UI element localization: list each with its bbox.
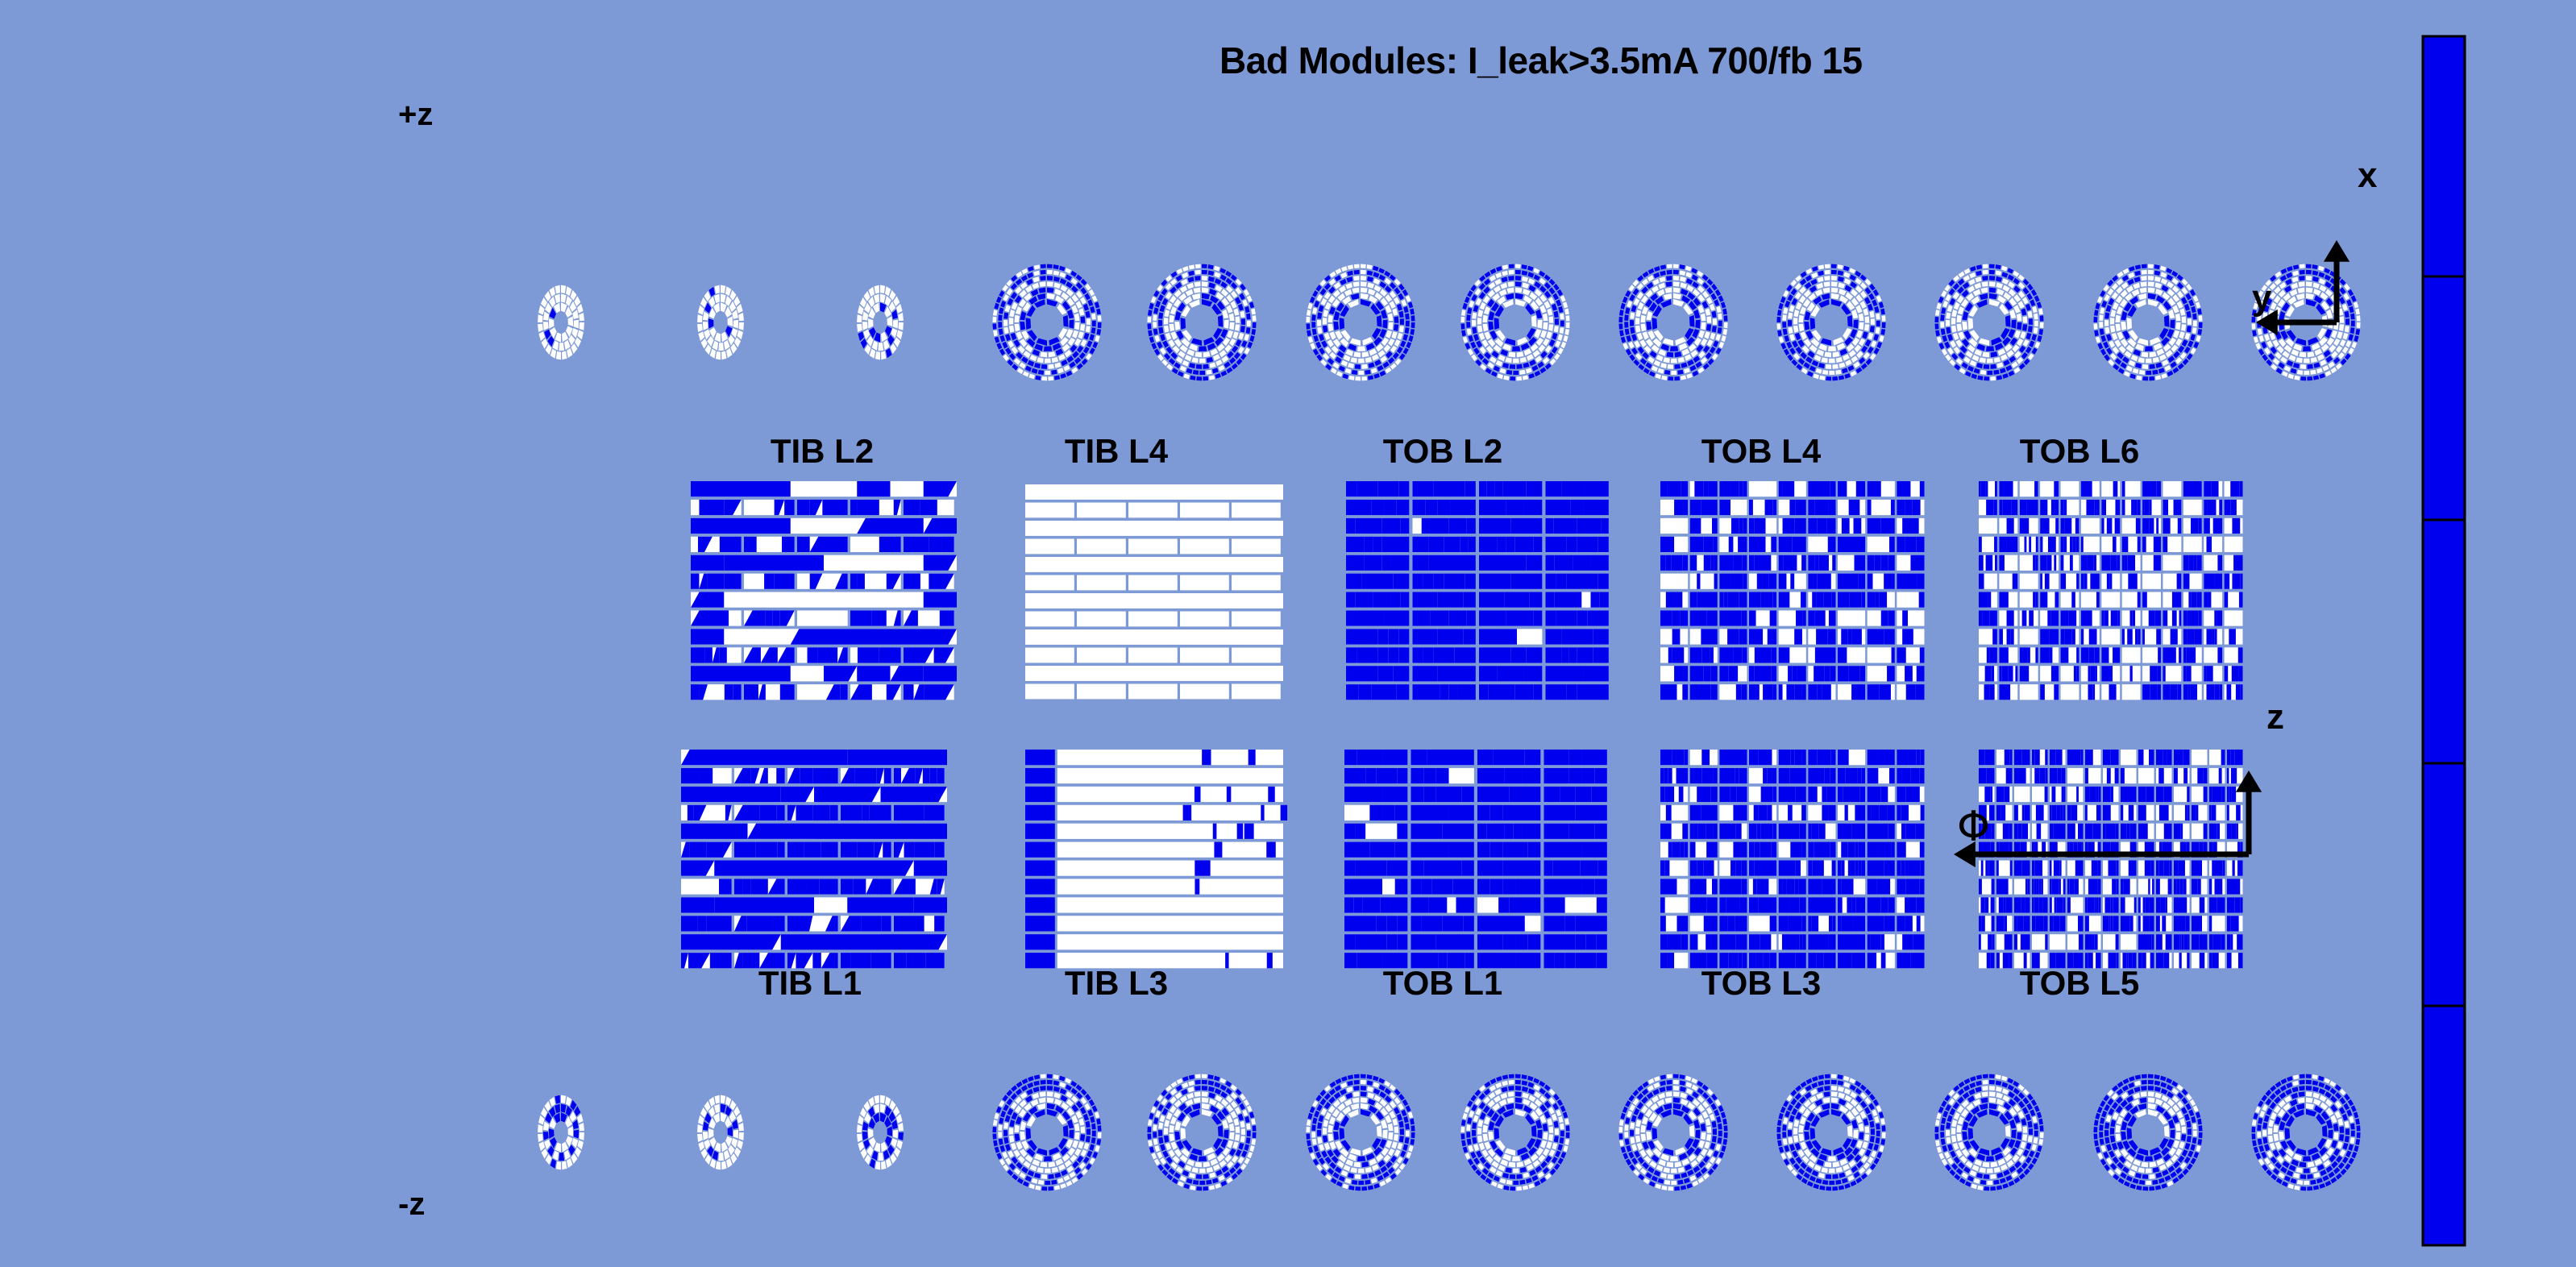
- module: [1183, 805, 1192, 820]
- module-bad: [748, 861, 815, 876]
- module-bad: [1815, 647, 1836, 663]
- module-bad: [2183, 610, 2188, 625]
- disk-module: [2001, 354, 2008, 360]
- module-bad: [1710, 666, 1718, 681]
- module-bad: [1749, 861, 1755, 876]
- disk-module: [1987, 371, 1992, 375]
- module-bad: [1855, 842, 1858, 858]
- ladder: [2121, 934, 2137, 949]
- disk-tid-d2[interactable]: [697, 285, 744, 360]
- disk-module: [1209, 376, 1215, 380]
- ladder: [2067, 768, 2084, 783]
- disk-module: [1367, 264, 1373, 269]
- disk-module: [1208, 264, 1214, 269]
- module-bad: [1799, 897, 1806, 912]
- disk-module: [2296, 357, 2303, 363]
- disk-module: [1403, 347, 1409, 354]
- module-bad: [1556, 574, 1567, 589]
- disk-module: [1055, 363, 1062, 368]
- disk-module: [1665, 288, 1672, 293]
- disk-module: [2307, 376, 2312, 380]
- module-bad: [1873, 629, 1884, 644]
- disk-tec-d4[interactable]: [1460, 264, 1569, 381]
- disk-module: [2001, 266, 2007, 272]
- disk-module: [2171, 271, 2178, 277]
- disk-module: [1793, 309, 1799, 317]
- disk-module: [738, 1132, 743, 1140]
- module-bad: [1906, 824, 1915, 839]
- disk-module: [1231, 291, 1237, 298]
- disk-module: [1202, 281, 1208, 286]
- disk-module: [1007, 289, 1013, 296]
- disk-module: [1787, 355, 1793, 361]
- disk-module: [2101, 301, 2107, 308]
- ladder: [1077, 684, 1126, 700]
- disk-tec-d3[interactable]: [1306, 264, 1415, 381]
- disk-module: [2154, 264, 2160, 269]
- module-bad: [2086, 500, 2094, 515]
- disk-module: [1963, 356, 1971, 363]
- disk-module: [1804, 339, 1811, 347]
- module-bad: [2159, 805, 2169, 820]
- module-bad: [725, 684, 733, 700]
- disk-module: [1804, 362, 1810, 368]
- module-bad: [2227, 768, 2229, 783]
- disk-module: [1792, 298, 1798, 305]
- module-bad: [2050, 897, 2052, 912]
- disk-module: [1785, 301, 1790, 308]
- module-bad: [1666, 592, 1683, 608]
- module-bad: [2174, 500, 2182, 515]
- disk-module: [1095, 335, 1099, 342]
- module-bad: [1755, 518, 1766, 534]
- module-bad: [1719, 666, 1728, 681]
- module-bad: [1676, 750, 1685, 765]
- module-bad: [2164, 861, 2170, 876]
- disk-module: [1241, 318, 1245, 325]
- module-bad: [1877, 750, 1884, 765]
- module-bad: [2138, 537, 2141, 552]
- module-bad: [1577, 537, 1598, 552]
- module-bad: [1851, 684, 1865, 700]
- module-bad: [2041, 879, 2043, 894]
- ladder-row: [1346, 684, 1609, 700]
- disk-module: [2032, 306, 2037, 313]
- disk-module: [1032, 368, 1038, 374]
- disk-tid-d3[interactable]: [857, 285, 904, 360]
- module-bad: [689, 842, 706, 858]
- disk-module: [1078, 331, 1083, 339]
- disk-module: [1164, 326, 1169, 333]
- disk-module: [721, 1103, 726, 1112]
- barrel-panel-tib-l2[interactable]: [691, 481, 957, 700]
- module-bad: [2156, 787, 2164, 802]
- disk-module: [1410, 309, 1415, 315]
- disk-module: [1635, 318, 1640, 324]
- ladder-row: [1025, 593, 1283, 609]
- module-bad: [2073, 824, 2075, 839]
- module-bad: [2198, 610, 2202, 625]
- disk-module: [1238, 304, 1244, 311]
- disk-module: [1071, 285, 1078, 293]
- module-bad: [2090, 666, 2095, 681]
- disk-module: [1635, 309, 1641, 317]
- ladder: [2122, 647, 2141, 663]
- disk-tec-d8[interactable]: [2093, 264, 2202, 381]
- module-bad: [1987, 768, 1995, 783]
- module: [1195, 787, 1201, 802]
- disk-module: [2034, 342, 2040, 348]
- disk-module: [1664, 357, 1670, 363]
- disk-module: [1712, 311, 1717, 318]
- disk-module: [1629, 294, 1635, 301]
- module-bad: [1411, 879, 1422, 894]
- module-bad: [2007, 610, 2014, 625]
- disk-module: [1488, 311, 1494, 320]
- disk-module: [2029, 340, 2034, 347]
- disk-module: [1180, 366, 1186, 372]
- module-bad: [2037, 879, 2039, 894]
- disk-module: [1716, 306, 1721, 313]
- disk-module: [1324, 275, 1331, 281]
- module-bad: [2075, 518, 2079, 534]
- disk-module: [1153, 314, 1157, 321]
- disk-module: [1016, 279, 1022, 285]
- disk-module: [1028, 374, 1034, 380]
- module-bad: [2035, 592, 2038, 608]
- module-bad: [904, 684, 914, 700]
- disk-module: [1460, 317, 1465, 322]
- disk-module: [566, 286, 571, 296]
- disk-hole: [555, 311, 568, 333]
- module: [1057, 842, 1283, 858]
- module-bad: [1842, 916, 1854, 931]
- disk-module: [2029, 318, 2033, 325]
- module-bad: [1742, 879, 1747, 894]
- disk-module: [708, 318, 714, 329]
- disk-module: [2104, 312, 2109, 318]
- module-bad: [2076, 537, 2079, 552]
- module-bad: [2040, 518, 2043, 534]
- module-bad: [2183, 666, 2186, 681]
- module-bad: [2192, 861, 2197, 876]
- ladder: [1128, 612, 1178, 627]
- disk-module: [885, 1096, 891, 1106]
- module-bad: [2070, 537, 2073, 552]
- barrel-panel-tob-l4[interactable]: [1660, 481, 1925, 700]
- module-bad: [1411, 934, 1436, 949]
- module-bad: [1391, 555, 1409, 571]
- disk-module: [1512, 346, 1520, 351]
- module-bad: [2187, 787, 2189, 802]
- disk-module: [1027, 272, 1033, 278]
- disk-module: [1843, 354, 1850, 360]
- disk-module: [1986, 346, 1994, 351]
- module-bad: [2127, 824, 2130, 839]
- disk-module: [1540, 330, 1547, 339]
- disk-tec-d1[interactable]: [992, 1074, 1101, 1191]
- disk-module: [1321, 298, 1327, 305]
- disk-module: [2093, 323, 2097, 329]
- disk-module: [1515, 293, 1523, 300]
- disk-module: [1086, 340, 1092, 347]
- disk-module: [1068, 338, 1075, 346]
- module-bad: [1544, 842, 1582, 858]
- disk-module: [714, 1143, 721, 1153]
- ladder-row: [1346, 610, 1609, 625]
- disk-module: [1543, 339, 1549, 347]
- module-bad: [2022, 750, 2025, 765]
- disk-module: [1804, 322, 1809, 330]
- module: [1202, 750, 1211, 765]
- module-bad: [1561, 481, 1585, 496]
- disk-module: [2312, 271, 2318, 276]
- module-bad: [855, 768, 877, 783]
- disk-tec-d6[interactable]: [1776, 264, 1885, 381]
- disk-module: [1806, 268, 1813, 274]
- module-bad: [1860, 897, 1865, 912]
- module-bad: [1395, 805, 1408, 820]
- disk-module: [1311, 314, 1315, 321]
- disk-module: [2129, 374, 2135, 380]
- module-bad: [1413, 666, 1438, 681]
- disk-tid-d1[interactable]: [538, 1095, 584, 1170]
- disk-module: [1954, 347, 1960, 354]
- module-bad: [814, 824, 881, 839]
- module-bad: [1411, 805, 1449, 820]
- module-bad: [2161, 897, 2166, 912]
- module-bad: [1346, 555, 1364, 571]
- disk-module: [2190, 289, 2196, 296]
- module-bad: [2148, 879, 2150, 894]
- disk-tec-d2[interactable]: [1147, 264, 1256, 381]
- disk-module: [1361, 288, 1368, 293]
- disk-tec-d7[interactable]: [1934, 264, 2043, 381]
- disk-module: [1181, 279, 1187, 285]
- module-bad: [1881, 610, 1888, 625]
- module-bad: [1783, 555, 1797, 571]
- disk-tec-d5[interactable]: [1618, 264, 1727, 381]
- module-bad: [2163, 610, 2167, 625]
- module-bad: [2233, 879, 2241, 894]
- disk-module: [1212, 368, 1219, 373]
- disk-module: [1515, 270, 1521, 275]
- disk-module: [1008, 298, 1014, 305]
- module-bad: [1515, 684, 1533, 700]
- module-bad: [1779, 824, 1800, 839]
- disk-module: [1203, 351, 1211, 357]
- module-bad: [1431, 610, 1448, 625]
- barrel-panel-tob-l3[interactable]: [1660, 750, 1925, 968]
- disk-module: [1838, 271, 1843, 276]
- disk-module: [1856, 351, 1863, 359]
- disk-module: [2293, 264, 2299, 269]
- disk-module: [1870, 353, 1876, 359]
- disk-module: [1839, 376, 1844, 380]
- disk-module: [1718, 342, 1724, 348]
- module-bad: [1897, 500, 1905, 515]
- module-bad: [775, 574, 795, 589]
- module-bad: [2103, 750, 2111, 765]
- barrel-panel-tob-l2[interactable]: [1346, 481, 1609, 700]
- module-bad: [1786, 879, 1794, 894]
- disk-module: [1633, 359, 1639, 366]
- module-bad: [2121, 805, 2123, 820]
- module-bad: [1919, 592, 1925, 608]
- module-bad: [2098, 879, 2101, 894]
- module-bad: [924, 592, 957, 608]
- disk-module: [2032, 347, 2038, 354]
- disk-module: [858, 1115, 864, 1125]
- disk-module: [1467, 329, 1472, 335]
- disk-module: [1626, 349, 1631, 355]
- disk-module: [2181, 324, 2186, 331]
- disk-module: [738, 322, 743, 330]
- disk-module: [1784, 349, 1789, 355]
- module-bad: [2097, 500, 2100, 515]
- module-bad: [1979, 481, 1981, 496]
- disk-module: [1047, 293, 1055, 300]
- disk-module: [2155, 376, 2161, 380]
- module-bad: [2163, 518, 2170, 534]
- module-bad: [1743, 647, 1747, 663]
- module-bad: [1729, 537, 1734, 552]
- disk-module: [1951, 309, 1957, 317]
- disk-module: [2037, 301, 2042, 308]
- disk-module: [1369, 348, 1377, 355]
- module-bad: [2025, 879, 2028, 894]
- barrel-panel-tob-l6[interactable]: [1979, 481, 2243, 700]
- ladder: [2142, 574, 2161, 589]
- disk-module: [2110, 353, 2117, 360]
- module-bad: [1808, 481, 1819, 496]
- disk-module: [1003, 355, 1009, 361]
- module-bad: [2200, 934, 2202, 949]
- disk-module: [1069, 320, 1074, 329]
- disk-module: [1940, 322, 1944, 327]
- ladder-row: [1346, 500, 1609, 515]
- ladder-row: [691, 574, 954, 589]
- disk-module: [538, 331, 545, 341]
- disk-module: [1692, 281, 1699, 289]
- module-bad: [894, 916, 924, 931]
- disk-module: [715, 285, 720, 294]
- module-bad: [1546, 647, 1562, 663]
- disk-tec-d1[interactable]: [992, 264, 1101, 381]
- disk-module: [2094, 309, 2099, 316]
- disk-module: [1980, 370, 1986, 375]
- disk-module: [1876, 295, 1882, 301]
- disk-module: [1385, 278, 1391, 285]
- disk-module: [1673, 281, 1680, 286]
- module-bad: [1423, 768, 1436, 783]
- disk-module: [1828, 346, 1836, 351]
- disk-module: [998, 322, 1002, 327]
- disk-module: [561, 285, 566, 293]
- disk-module: [1307, 303, 1312, 309]
- disk-module: [1713, 318, 1717, 325]
- disk-module: [1166, 347, 1173, 354]
- barrel-panel-tob-l5[interactable]: [1979, 750, 2243, 968]
- module-bad: [1986, 481, 1988, 496]
- module-bad: [2200, 897, 2205, 912]
- ladder: [2192, 750, 2208, 765]
- disk-tid-d3[interactable]: [857, 1095, 904, 1170]
- module-bad: [1413, 574, 1423, 589]
- module-bad: [1801, 916, 1806, 931]
- module-bad: [1377, 647, 1388, 663]
- disk-module: [1035, 376, 1041, 380]
- disk-module: [2357, 315, 2361, 321]
- disk-module: [1168, 339, 1174, 347]
- disk-module: [2109, 298, 2115, 305]
- module-bad: [1719, 574, 1731, 589]
- module-bad: [1576, 916, 1607, 931]
- disk-module: [1377, 315, 1382, 327]
- disk-module: [1563, 301, 1568, 308]
- disk-module: [862, 322, 868, 330]
- disk-module: [995, 337, 999, 343]
- module-bad: [1704, 481, 1709, 496]
- disk-module: [2162, 359, 2168, 366]
- disk-module: [2264, 334, 2270, 341]
- module-bad: [2104, 610, 2109, 625]
- disk-module: [2342, 333, 2348, 340]
- disk-module: [2138, 357, 2145, 363]
- module-bad: [2188, 805, 2190, 820]
- disk-module: [1707, 279, 1714, 285]
- module-bad: [2138, 934, 2144, 949]
- barrel-panel-tob-l1[interactable]: [1344, 750, 1607, 968]
- disk-module: [1528, 278, 1535, 285]
- disk-module: [1249, 335, 1254, 342]
- disk-module: [1003, 327, 1008, 334]
- module-bad: [2035, 555, 2038, 571]
- module-bad: [1346, 574, 1362, 589]
- disk-module: [1310, 297, 1315, 303]
- module-bad: [2130, 666, 2133, 681]
- module-bad: [1682, 684, 1688, 700]
- disk-tid-d2[interactable]: [697, 1095, 744, 1170]
- disk-module: [1826, 376, 1831, 380]
- disk-module: [1045, 359, 1051, 363]
- module-bad: [2045, 787, 2048, 802]
- disk-module: [1783, 290, 1789, 297]
- module-bad: [1753, 879, 1757, 894]
- disk-module: [1523, 363, 1530, 368]
- disk-module: [1702, 301, 1709, 309]
- disk-module: [2131, 355, 2138, 361]
- disk-module: [1014, 315, 1019, 322]
- disk-tid-d1[interactable]: [538, 285, 584, 360]
- module-bad: [2174, 934, 2179, 949]
- barrel-panel-tib-l1[interactable]: [681, 750, 947, 968]
- disk-module: [1232, 331, 1238, 339]
- module-bad: [780, 684, 795, 700]
- disk-module: [1202, 270, 1207, 275]
- barrel-panel-tib-l3[interactable]: [1025, 750, 1287, 968]
- disk-module: [1509, 264, 1514, 268]
- barrel-panel-tib-l4[interactable]: [1025, 484, 1283, 699]
- disk-module: [1381, 355, 1388, 363]
- disk-module: [872, 341, 878, 351]
- disk-module: [1843, 266, 1849, 272]
- disk-module: [1981, 288, 1988, 293]
- disk-module: [1968, 318, 1974, 330]
- disk-module: [1476, 341, 1482, 348]
- module-bad: [1523, 824, 1540, 839]
- disk-module: [1515, 264, 1521, 268]
